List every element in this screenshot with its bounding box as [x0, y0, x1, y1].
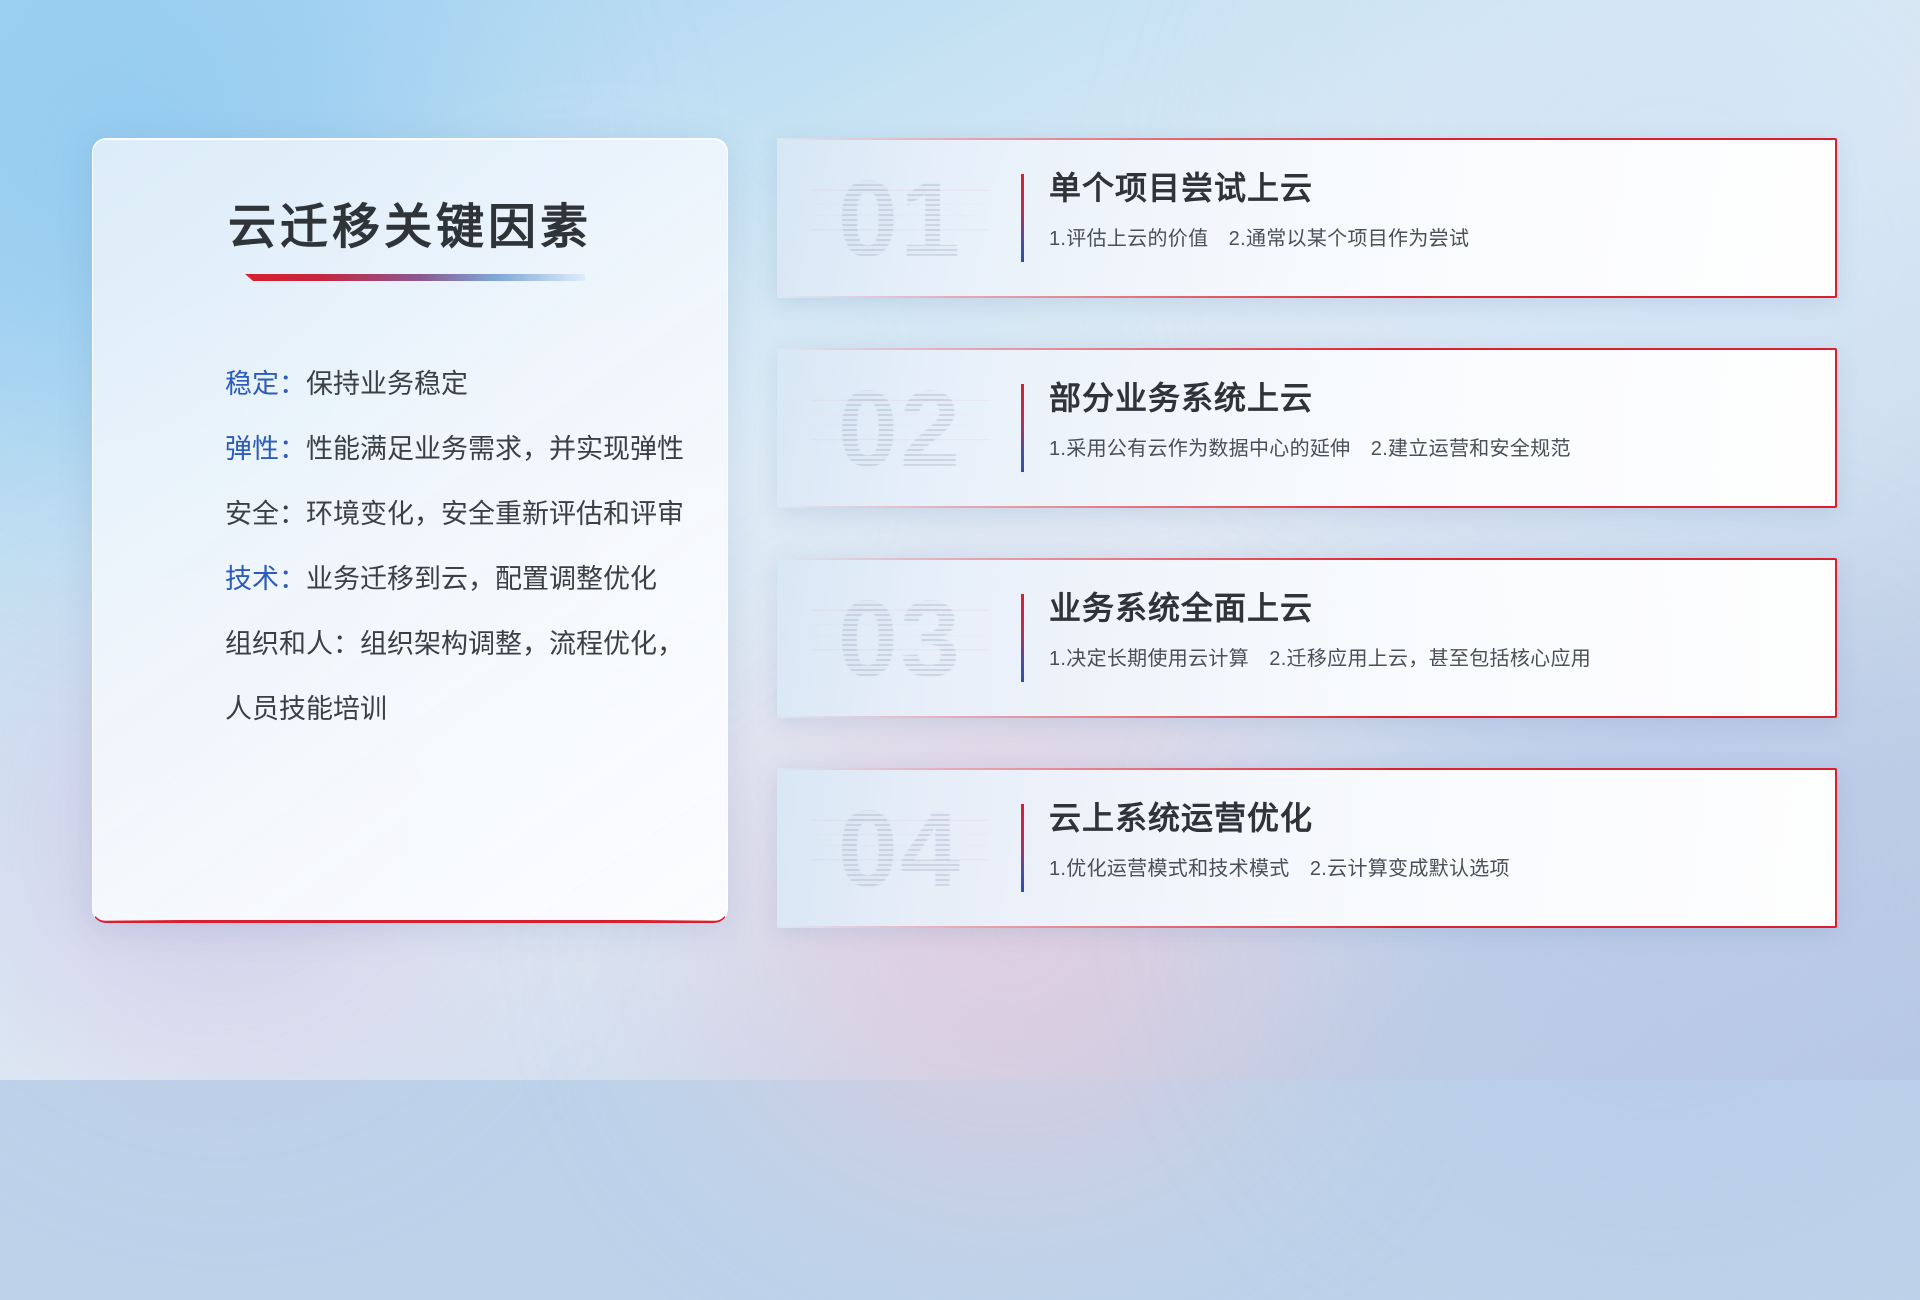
factor-label: 技术：: [225, 564, 306, 594]
stage-card[interactable]: 03业务系统全面上云1.决定长期使用云计算 2.迁移应用上云，甚至包括核心应用: [777, 558, 1837, 718]
card-subtitle: 1.评估上云的价值 2.通常以某个项目作为尝试: [1049, 222, 1797, 251]
stage-card[interactable]: 04云上系统运营优化1.优化运营模式和技术模式 2.云计算变成默认选项: [777, 768, 1837, 928]
card-top-rule: [777, 768, 1837, 770]
page-title: 云迁移关键因素: [93, 187, 727, 257]
card-step-number: 01: [805, 154, 995, 282]
card-subtitle: 1.优化运营模式和技术模式 2.云计算变成默认选项: [1049, 852, 1797, 881]
card-top-rule: [777, 138, 1837, 140]
factor-label: 弹性：: [225, 434, 306, 464]
factor-label: 稳定：: [225, 369, 306, 399]
stage-card[interactable]: 02部分业务系统上云1.采用公有云作为数据中心的延伸 2.建立运营和安全规范: [777, 348, 1837, 508]
card-title: 单个项目尝试上云: [1049, 168, 1797, 208]
card-right-edge: [1835, 348, 1837, 508]
factor-item: 稳定：保持业务稳定: [93, 371, 727, 398]
title-underline-rule: [245, 274, 585, 281]
card-accent-bar: [1021, 804, 1024, 892]
card-top-rule: [777, 348, 1837, 350]
factor-item: 安全：环境变化，安全重新评估和评审: [93, 501, 727, 528]
factor-text: 性能满足业务需求，并实现弹性: [306, 434, 684, 464]
factor-text: 环境变化，安全重新评估和评审: [306, 499, 684, 529]
card-step-number: 02: [805, 364, 995, 492]
factor-list: 稳定：保持业务稳定弹性：性能满足业务需求，并实现弹性安全：环境变化，安全重新评估…: [93, 371, 727, 723]
card-top-rule: [777, 558, 1837, 560]
card-subtitle: 1.采用公有云作为数据中心的延伸 2.建立运营和安全规范: [1049, 432, 1797, 461]
factor-text: 业务迁移到云，配置调整优化: [306, 564, 657, 594]
card-title: 部分业务系统上云: [1049, 378, 1797, 418]
card-right-edge: [1835, 558, 1837, 718]
card-body: 单个项目尝试上云1.评估上云的价值 2.通常以某个项目作为尝试: [1049, 168, 1797, 251]
factor-label: 安全：: [225, 499, 306, 529]
card-body: 业务系统全面上云1.决定长期使用云计算 2.迁移应用上云，甚至包括核心应用: [1049, 588, 1797, 671]
card-step-number: 03: [805, 574, 995, 702]
factor-text: 组织架构调整，流程优化，: [360, 629, 684, 659]
stage-card[interactable]: 01单个项目尝试上云1.评估上云的价值 2.通常以某个项目作为尝试: [777, 138, 1837, 298]
stage-card-list: 01单个项目尝试上云1.评估上云的价值 2.通常以某个项目作为尝试02部分业务系…: [777, 138, 1837, 928]
card-title: 云上系统运营优化: [1049, 798, 1797, 838]
card-bottom-rule: [777, 296, 1837, 298]
card-body: 云上系统运营优化1.优化运营模式和技术模式 2.云计算变成默认选项: [1049, 798, 1797, 881]
factor-item: 组织和人：组织架构调整，流程优化，: [93, 631, 727, 658]
card-body: 部分业务系统上云1.采用公有云作为数据中心的延伸 2.建立运营和安全规范: [1049, 378, 1797, 461]
key-factors-panel: 云迁移关键因素 稳定：保持业务稳定弹性：性能满足业务需求，并实现弹性安全：环境变…: [92, 138, 728, 923]
factor-item: 人员技能培训: [93, 696, 727, 723]
card-bottom-rule: [777, 716, 1837, 718]
card-subtitle: 1.决定长期使用云计算 2.迁移应用上云，甚至包括核心应用: [1049, 642, 1797, 671]
card-step-number: 04: [805, 784, 995, 912]
factor-label: 组织和人：: [225, 629, 360, 659]
card-title: 业务系统全面上云: [1049, 588, 1797, 628]
factor-item: 弹性：性能满足业务需求，并实现弹性: [93, 436, 727, 463]
card-bottom-rule: [777, 926, 1837, 928]
factor-text: 保持业务稳定: [306, 369, 468, 399]
card-right-edge: [1835, 768, 1837, 928]
card-accent-bar: [1021, 384, 1024, 472]
factor-text: 人员技能培训: [225, 694, 387, 724]
card-accent-bar: [1021, 594, 1024, 682]
factor-item: 技术：业务迁移到云，配置调整优化: [93, 566, 727, 593]
card-accent-bar: [1021, 174, 1024, 262]
card-bottom-rule: [777, 506, 1837, 508]
slide-content: 云迁移关键因素 稳定：保持业务稳定弹性：性能满足业务需求，并实现弹性安全：环境变…: [0, 0, 1920, 1080]
card-right-edge: [1835, 138, 1837, 298]
